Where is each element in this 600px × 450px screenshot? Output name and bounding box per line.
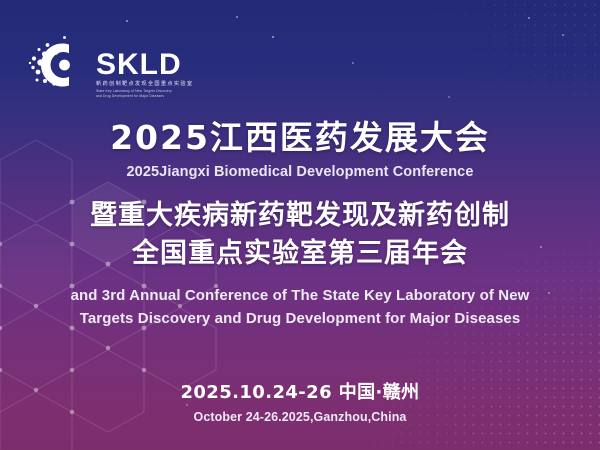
logo-text-block: SKLD 新药创制靶点发现全国重点实验室 State Key Laborator… [96,34,193,98]
date-venue-chinese: 2025.10.24-26 中国·赣州 [0,378,600,404]
star-speck [562,34,564,36]
logo-english-name-line2: and Drug Development for Major Diseases [96,94,193,98]
star-speck [352,62,354,64]
page-title-english: 2025Jiangxi Biomedical Development Confe… [0,164,600,180]
conference-poster: SKLD 新药创制靶点发现全国重点实验室 State Key Laborator… [0,0,600,450]
description-block: and 3rd Annual Conference of The State K… [0,284,600,331]
page-title-chinese: 2025江西医药发展大会 [0,118,600,159]
star-speck [448,96,450,98]
star-speck [236,16,238,18]
description-english-line1: and 3rd Annual Conference of The State K… [0,284,600,307]
skld-logo: SKLD 新药创制靶点发现全国重点实验室 State Key Laborator… [28,34,193,98]
star-speck [272,36,274,38]
subtitle-chinese-line2: 全国重点实验室第三届年会 [0,235,600,273]
subtitle-block: 暨重大疾病新药靶发现及新药创制 全国重点实验室第三届年会 [0,197,600,274]
date-venue-english: October 24-26.2025,Ganzhou,China [0,410,600,424]
date-venue-block: 2025.10.24-26 中国·赣州 October 24-26.2025,G… [0,378,600,424]
logo-english-name-line1: State Key Laboratory of New Targets Disc… [96,89,193,93]
poster-content: 2025江西医药发展大会 2025Jiangxi Biomedical Deve… [0,118,600,330]
subtitle-chinese-line1: 暨重大疾病新药靶发现及新药创制 [0,197,600,235]
molecular-c-logo-icon [28,34,90,96]
star-speck [126,20,128,22]
logo-chinese-name: 新药创制靶点发现全国重点实验室 [96,81,193,88]
star-speck [528,17,530,19]
description-english-line2: Targets Discovery and Drug Development f… [0,307,600,330]
logo-acronym: SKLD [96,50,193,80]
